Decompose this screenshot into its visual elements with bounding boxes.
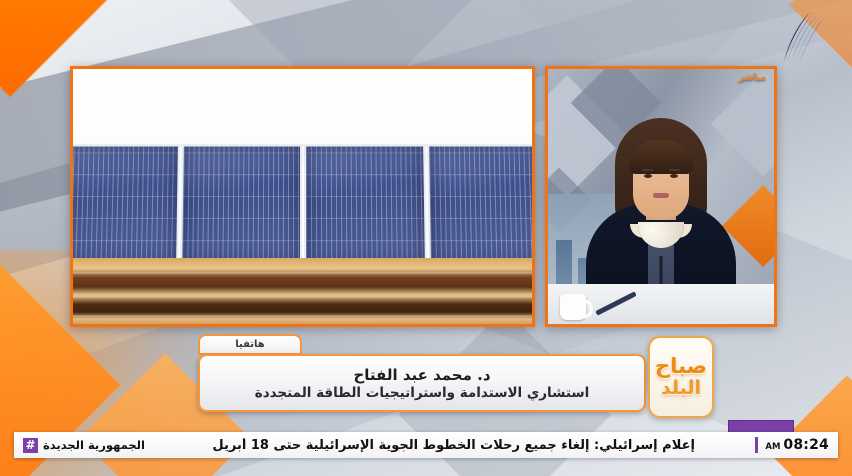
program-logo-line2: البلد	[661, 379, 701, 398]
coffee-mug	[560, 294, 586, 320]
phone-call-tag-label: هاتفيا	[235, 339, 264, 350]
solar-panel	[427, 146, 535, 263]
anchor-eye	[670, 174, 678, 178]
news-ticker-bar: 08:24 AM إعلام إسرائيلي: إلغاء جميع رحلا…	[14, 432, 838, 458]
ticker-time: 08:24	[783, 437, 829, 453]
guest-name-plate: د. محمد عبد الفتاح استشاري الاستدامة واس…	[198, 354, 646, 412]
desert-ground	[73, 258, 532, 324]
channel-swoosh-logo-icon	[770, 8, 834, 70]
phone-call-tag: هاتفيا	[198, 334, 302, 355]
ticker-clock: 08:24 AM	[758, 437, 838, 453]
ticker-headline: إعلام إسرائيلي: إلغاء جميع رحلات الخطوط …	[152, 438, 755, 453]
ticker-divider	[755, 437, 758, 453]
solar-panel	[304, 146, 426, 263]
ticker-meridiem: AM	[765, 442, 780, 452]
solar-panel	[180, 146, 302, 263]
solar-panel	[70, 146, 179, 263]
program-logo-line1: صباح	[655, 356, 707, 377]
story-image-panel	[70, 66, 535, 327]
hashtag-icon: #	[23, 438, 38, 453]
live-badge: مباشر	[739, 73, 766, 83]
program-logo: صباح البلد	[648, 336, 714, 418]
anchor-eyebrow	[642, 169, 653, 171]
pen-icon	[595, 291, 636, 315]
anchor-eye	[644, 174, 652, 178]
lower-third: هاتفيا د. محمد عبد الفتاح استشاري الاستد…	[198, 334, 646, 418]
solar-panel-array	[70, 146, 535, 263]
presenter-video-panel: مباشر	[545, 66, 777, 327]
studio-desk	[548, 284, 774, 324]
anchor-mouth	[653, 193, 669, 198]
anchor-eyebrow	[669, 169, 680, 171]
guest-name: د. محمد عبد الفتاح	[353, 366, 490, 384]
ticker-brand-group: الجمهورية الجديدة #	[14, 438, 152, 453]
broadcast-screen: مباشر هاتفيا د. محمد عبد الفتاح استشاري …	[0, 0, 852, 476]
ticker-brand-label: الجمهورية الجديدة	[43, 438, 145, 452]
guest-title: استشاري الاستدامة واستراتيجيات الطاقة ال…	[255, 385, 590, 401]
